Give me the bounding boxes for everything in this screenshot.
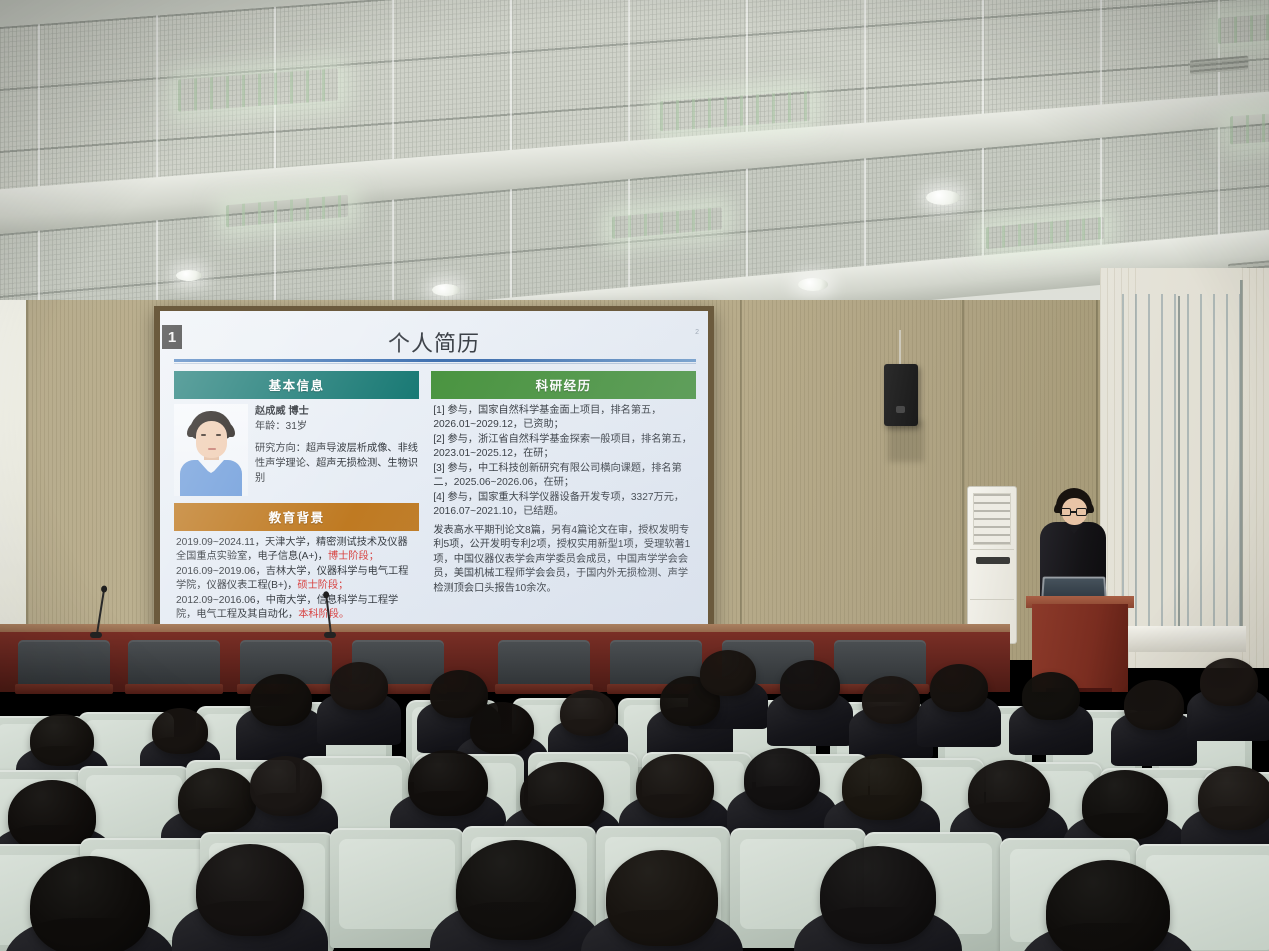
research-item: [3] 参与，中工科技创新研究有限公司横向课题，排名第二，2025.06~202… — [433, 462, 694, 491]
person-age: 年龄：31岁 — [255, 419, 419, 434]
education-entry: 2019.09~2024.11，天津大学，精密测试技术及仪器全国重点实验室，电子… — [176, 536, 417, 565]
education-body: 2019.09~2024.11，天津大学，精密测试技术及仪器全国重点实验室，电子… — [174, 531, 419, 623]
basic-info-body: 赵成威 博士 年龄：31岁 研究方向：超声导波层析成像、非线性声学理论、超声无损… — [174, 399, 419, 496]
research-experience-body: [1] 参与，国家自然科学基金面上项目，排名第五，2026.01~2029.12… — [431, 399, 696, 596]
audience-member-head — [968, 760, 1050, 828]
ceiling-downlight — [432, 284, 460, 296]
seat-cushion — [339, 839, 454, 929]
audience-member-head — [470, 702, 534, 754]
section-header-education: 教育背景 — [174, 503, 419, 531]
slide-columns: 基本信息 — [174, 371, 696, 621]
air-conditioner-seam — [970, 549, 1014, 550]
research-item: [2] 参与，浙江省自然科学基金探索一般项目，排名第五，2023.01~2025… — [433, 433, 694, 462]
research-item: [4] 参与，国家重大科学仪器设备开发专项，3327万元，2016.07~202… — [433, 491, 694, 520]
audience-member-head — [636, 754, 714, 818]
ceiling-downlight — [176, 270, 202, 281]
audience-member-head — [152, 708, 208, 754]
person-name: 赵成威 博士 — [255, 404, 419, 419]
window-mullion — [1178, 296, 1180, 636]
auditorium-photo: 1 2 个人简历 基本信息 — [0, 0, 1269, 951]
education-entry: 2016.09~2019.06，吉林大学，仪器科学与电气工程学院，仪器仪表工程(… — [176, 565, 417, 594]
ceiling-downlight — [926, 190, 960, 205]
air-conditioner-vent-bar — [976, 557, 1010, 564]
audience-member-head — [1200, 658, 1258, 706]
audience-member-head — [780, 660, 840, 710]
audience-member-head — [1082, 770, 1168, 840]
audience-member-head — [1124, 680, 1184, 730]
wall-panel-seam — [26, 300, 28, 660]
audience-member-head — [560, 690, 616, 736]
section-header-basic-info: 基本信息 — [174, 371, 419, 399]
education-entry: 2012.09~2016.06，中南大学，信息科学与工程学院，电气工程及其自动化… — [176, 594, 417, 623]
education-entry-text: 2012.09~2016.06，中南大学，信息科学与工程学院，电气工程及其自动化… — [176, 595, 398, 620]
speaker-shadow — [888, 420, 924, 462]
audience-member-head — [606, 850, 718, 946]
air-conditioner-grille — [973, 493, 1011, 545]
air-conditioner-seam — [970, 599, 1014, 600]
person-research-directions: 研究方向：超声导波层析成像、非线性声学理论、超声无损检测、生物识别 — [255, 441, 419, 487]
glasses-lens-right — [1076, 508, 1087, 516]
audience-member-head — [1046, 860, 1170, 951]
wall-edge-left-window — [0, 300, 26, 640]
audience-member-head — [178, 768, 256, 832]
speaker-mount-wire — [899, 330, 901, 366]
section-header-research-experience: 科研经历 — [431, 371, 696, 399]
audience-member-head — [250, 674, 312, 726]
basic-info-text: 赵成威 博士 年龄：31岁 研究方向：超声导波层析成像、非线性声学理论、超声无损… — [255, 404, 419, 496]
speaker-driver — [896, 406, 905, 413]
vertical-blind — [1122, 294, 1240, 636]
slide-title-rule-thin — [174, 363, 696, 364]
audience-member-head — [842, 754, 922, 820]
avatar-mouth — [208, 448, 216, 450]
audience-member-head — [30, 714, 94, 766]
slide-title: 个人简历 — [160, 326, 708, 358]
slide-right-column: 科研经历 [1] 参与，国家自然科学基金面上项目，排名第五，2026.01~20… — [431, 371, 696, 621]
slide-title-rule — [174, 359, 696, 362]
education-entry-stage: 本科阶段。 — [298, 609, 349, 620]
audience-member-head — [700, 650, 756, 696]
ceiling-panel-light — [1218, 14, 1269, 44]
audience-member-head — [862, 676, 920, 724]
education-entry-stage: 硕士阶段； — [297, 580, 348, 591]
audience-member-head — [250, 756, 322, 816]
audience-member-head — [1198, 766, 1269, 830]
wall-panel-seam — [962, 300, 964, 660]
projection-screen: 1 2 个人简历 基本信息 — [154, 306, 714, 636]
ceiling-panel-light — [1230, 112, 1269, 145]
avatar — [174, 404, 248, 496]
avatar-eye-right — [216, 434, 221, 436]
laptop-screen — [1043, 578, 1104, 597]
research-summary: 发表高水平期刊论文8篇，另有4篇论文在审，授权发明专利5项，公开发明专利2项，授… — [433, 524, 694, 596]
education-entry-stage: 博士阶段； — [328, 551, 379, 562]
audience-member-head — [820, 846, 936, 944]
sheer-curtain — [1242, 268, 1269, 668]
research-item: [1] 参与，国家自然科学基金面上项目，排名第五，2026.01~2029.12… — [433, 404, 694, 433]
audience-member-head — [520, 762, 604, 830]
audience-member-head — [196, 844, 304, 936]
audience-member-head — [930, 664, 988, 712]
glasses-icon — [1060, 508, 1089, 516]
audience-member-head — [408, 750, 488, 816]
wall-panel-seam — [740, 300, 742, 660]
avatar-face — [196, 421, 227, 458]
slide-surface: 1 2 个人简历 基本信息 — [160, 311, 708, 629]
glasses-lens-left — [1060, 508, 1071, 516]
avatar-eye-left — [201, 434, 206, 436]
education-entry-text: 2016.09~2019.06，吉林大学，仪器科学与电气工程学院，仪器仪表工程(… — [176, 566, 408, 591]
audience-member-head — [456, 840, 576, 940]
audience-member-head — [744, 748, 820, 810]
ceiling-downlight — [798, 278, 828, 291]
audience-member-head — [30, 856, 150, 951]
audience-member-head — [1022, 672, 1080, 720]
slide-left-column: 基本信息 — [174, 371, 419, 621]
ceiling — [0, 0, 1269, 318]
audience-seating — [0, 620, 1269, 951]
wall-speaker-icon — [884, 364, 918, 426]
audience-member-head — [330, 662, 388, 710]
